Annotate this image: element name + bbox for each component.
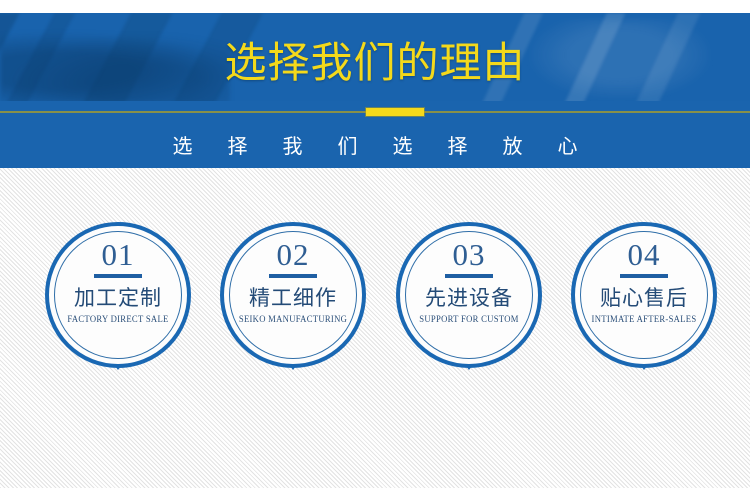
feature-badge-01[interactable]: 01 加工定制 FACTORY DIRECT SALE <box>45 222 191 368</box>
badge-title-en: FACTORY DIRECT SALE <box>48 313 188 325</box>
feature-badge-04[interactable]: 04 贴心售后 INTIMATE AFTER-SALES <box>571 222 717 368</box>
page-subtitle: 选 择 我 们 选 择 放 心 <box>0 133 750 161</box>
promo-banner-page: 选择我们的理由 选 择 我 们 选 择 放 心 01 加工定制 FACTORY … <box>0 0 750 488</box>
badge-number: 01 <box>45 239 191 271</box>
badge-title-cn: 精工细作 <box>220 286 366 310</box>
badge-underline-rule <box>94 274 142 278</box>
badge-content: 01 加工定制 FACTORY DIRECT SALE <box>45 222 191 368</box>
badge-content: 03 先进设备 SUPPORT FOR CUSTOM <box>396 222 542 368</box>
badge-underline-rule <box>620 274 668 278</box>
top-white-strip <box>0 0 750 13</box>
feature-badge-02[interactable]: 02 精工细作 SEIKO MANUFACTURING <box>220 222 366 368</box>
badge-number: 02 <box>220 239 366 271</box>
badge-content: 04 贴心售后 INTIMATE AFTER-SALES <box>571 222 717 368</box>
badge-title-en: SUPPORT FOR CUSTOM <box>399 313 539 325</box>
badge-title-en: INTIMATE AFTER-SALES <box>574 313 714 325</box>
striped-content-area: 01 加工定制 FACTORY DIRECT SALE 02 精工细作 SEIK… <box>0 168 750 488</box>
feature-badge-03[interactable]: 03 先进设备 SUPPORT FOR CUSTOM <box>396 222 542 368</box>
badge-title-cn: 先进设备 <box>396 286 542 310</box>
badge-number: 04 <box>571 239 717 271</box>
badge-title-cn: 加工定制 <box>45 286 191 310</box>
header-banner: 选择我们的理由 选 择 我 们 选 择 放 心 <box>0 13 750 168</box>
badge-title-en: SEIKO MANUFACTURING <box>223 313 363 325</box>
page-title: 选择我们的理由 <box>0 39 750 89</box>
badge-underline-rule <box>269 274 317 278</box>
badge-title-cn: 贴心售后 <box>571 286 717 310</box>
badge-content: 02 精工细作 SEIKO MANUFACTURING <box>220 222 366 368</box>
badge-underline-rule <box>445 274 493 278</box>
badge-number: 03 <box>396 239 542 271</box>
feature-badge-list: 01 加工定制 FACTORY DIRECT SALE 02 精工细作 SEIK… <box>0 168 750 488</box>
banner-divider-accent-dash <box>366 108 424 116</box>
